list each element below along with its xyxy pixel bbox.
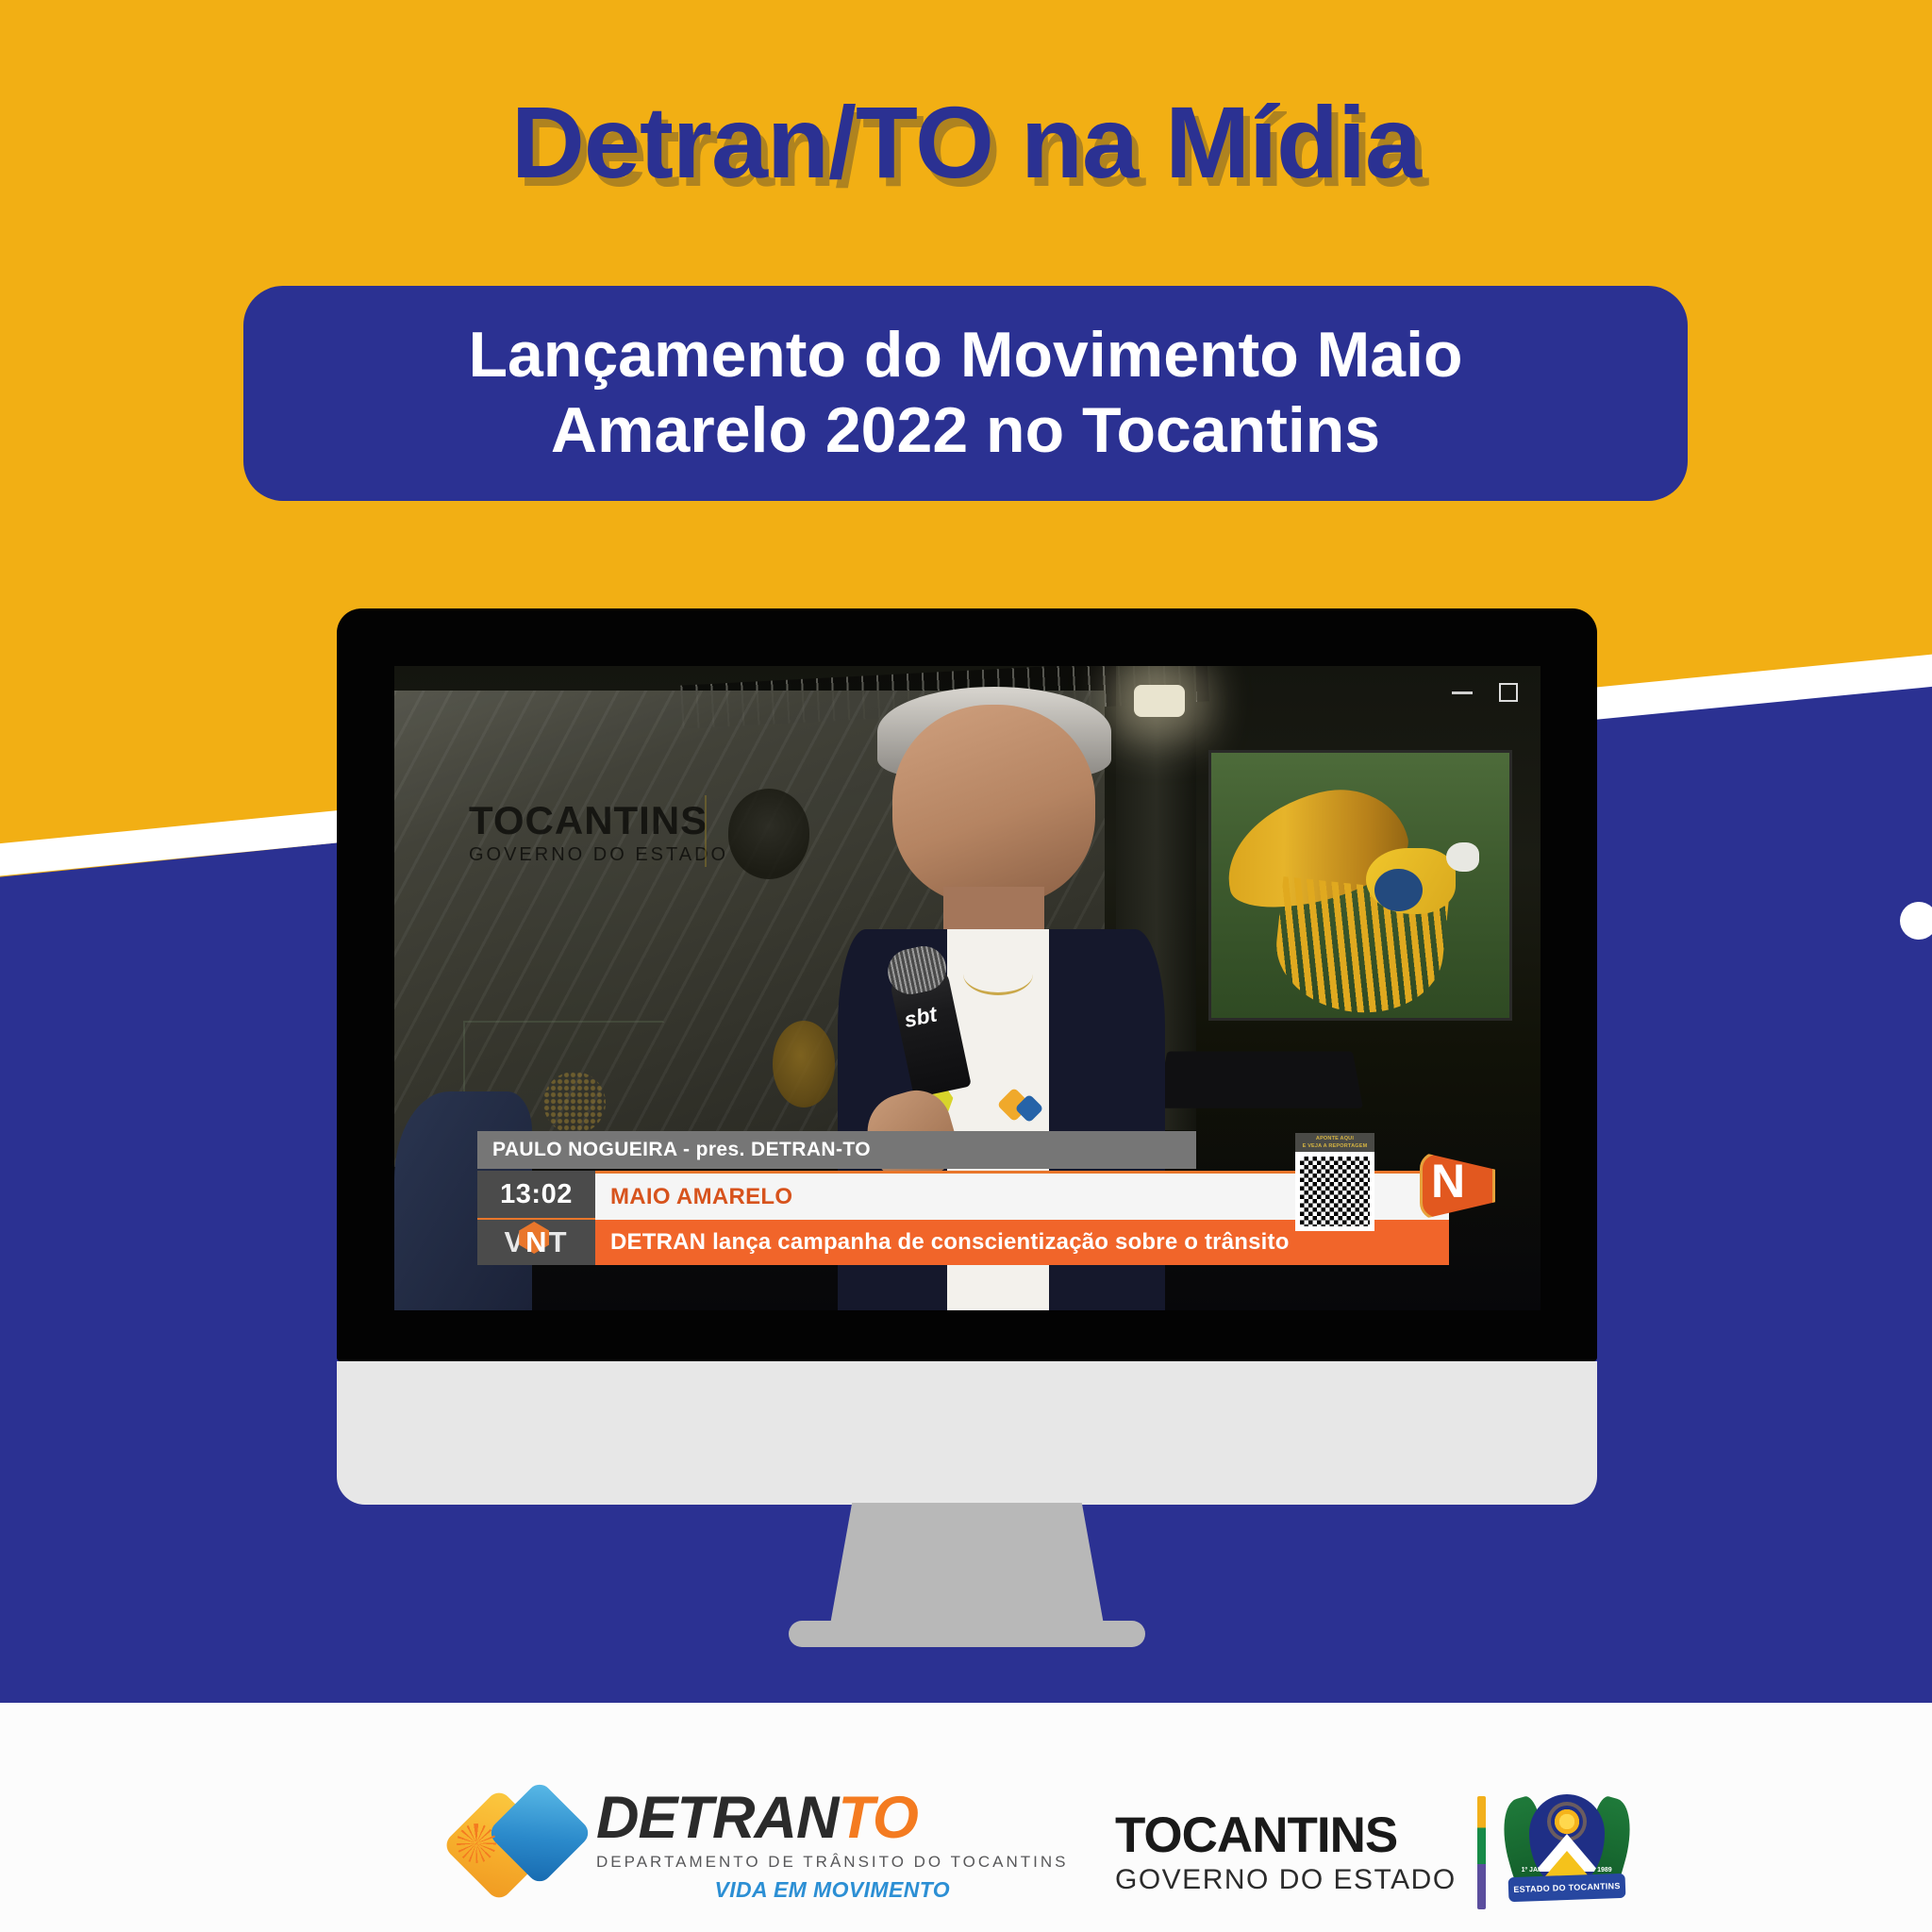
detran-word-orange: TO: [839, 1785, 918, 1851]
maximize-icon[interactable]: [1499, 683, 1518, 702]
government-line2: GOVERNO DO ESTADO: [1115, 1864, 1457, 1896]
window-controls[interactable]: [1452, 683, 1518, 702]
lower-third-left-column: 13:02 VNT: [477, 1171, 595, 1265]
microphone-logo: sbt: [902, 1002, 939, 1034]
crest-year-left: 1º JAN: [1522, 1867, 1542, 1874]
detran-logo-pin-icon: [1002, 1092, 1043, 1124]
qr-code-icon: [1295, 1152, 1374, 1231]
lower-third-name-bar: PAULO NOGUEIRA - pres. DETRAN-TO: [477, 1131, 1196, 1169]
detran-department-line: DEPARTAMENTO DE TRÂNSITO DO TOCANTINS: [596, 1853, 1069, 1872]
qr-code-block: APONTE AQUI E VEJA A REPORTAGEM: [1295, 1133, 1374, 1232]
macaw-blue-patch: [1374, 869, 1423, 911]
broadcaster-logo-highlight: N: [525, 1225, 548, 1259]
detran-sunburst-icon: [457, 1824, 496, 1863]
crest-sun-icon: [1551, 1806, 1583, 1838]
page-title: Detran/TO na Mídia: [0, 83, 1932, 201]
subtitle-banner: Lançamento do Movimento Maio Amarelo 202…: [243, 286, 1688, 501]
monitor-screen: TOCANTINS GOVERNO DO ESTADO: [394, 666, 1541, 1310]
poster-canvas: Detran/TO na Mídia Lançamento do Movimen…: [0, 0, 1932, 1932]
subtitle-text: Lançamento do Movimento Maio Amarelo 202…: [436, 318, 1494, 468]
interviewee-head: [892, 705, 1095, 905]
detran-wordmark: DETRANTO: [596, 1789, 1069, 1848]
government-color-bar: [1477, 1796, 1486, 1909]
detran-logo-text: DETRANTO DEPARTAMENTO DE TRÂNSITO DO TOC…: [596, 1789, 1069, 1903]
crest-mountain-gold: [1544, 1851, 1590, 1877]
backdrop-brand-lockup: TOCANTINS GOVERNO DO ESTADO: [469, 801, 728, 866]
crest-ribbon-text: ESTADO DO TOCANTINS: [1507, 1874, 1625, 1902]
qr-code-pattern: [1300, 1157, 1370, 1226]
diagonal-white-stripe-cap: [1900, 902, 1932, 940]
qr-caption-line1: APONTE AQUI: [1295, 1135, 1374, 1142]
macaw-beak: [1446, 842, 1479, 872]
crest-year-right: 1989: [1597, 1867, 1612, 1874]
detran-word-dark: DETRAN: [596, 1785, 839, 1851]
monitor-stand-foot: [789, 1621, 1145, 1647]
state-crest-icon: 1º JAN 1989 ESTADO DO TOCANTINS: [1507, 1792, 1627, 1913]
channel-logo-letter: N: [1431, 1158, 1465, 1205]
backdrop-crest-icon: [728, 789, 809, 879]
government-logo-text: TOCANTINS GOVERNO DO ESTADO: [1115, 1810, 1457, 1896]
detran-logo: DETRANTO DEPARTAMENTO DE TRÂNSITO DO TOC…: [458, 1789, 1069, 1903]
projection-screen-macaw: [1208, 750, 1512, 1021]
detran-logo-mark-icon: [458, 1795, 579, 1897]
government-line1: TOCANTINS: [1115, 1810, 1457, 1860]
minimize-icon[interactable]: [1452, 691, 1473, 694]
broadcast-clock: 13:02: [477, 1171, 595, 1220]
detran-tagline: VIDA EM MOVIMENTO: [596, 1877, 1069, 1903]
government-logo: TOCANTINS GOVERNO DO ESTADO 1º JAN 1989 …: [1115, 1792, 1627, 1913]
monitor-chin: [337, 1361, 1597, 1505]
qr-caption: APONTE AQUI E VEJA A REPORTAGEM: [1295, 1133, 1374, 1153]
backdrop-brand-line1: TOCANTINS: [469, 801, 728, 841]
backdrop-brand-divider: [705, 795, 707, 867]
backdrop-dot-burst-icon: [543, 1072, 606, 1134]
backdrop-brand-line2: GOVERNO DO ESTADO: [469, 844, 728, 866]
interviewee-necklace: [963, 953, 1033, 995]
channel-watermark-logo: N: [1420, 1152, 1495, 1220]
qr-caption-line2: E VEJA A REPORTAGEM: [1295, 1142, 1374, 1150]
broadcaster-logo: VNT: [477, 1220, 595, 1265]
